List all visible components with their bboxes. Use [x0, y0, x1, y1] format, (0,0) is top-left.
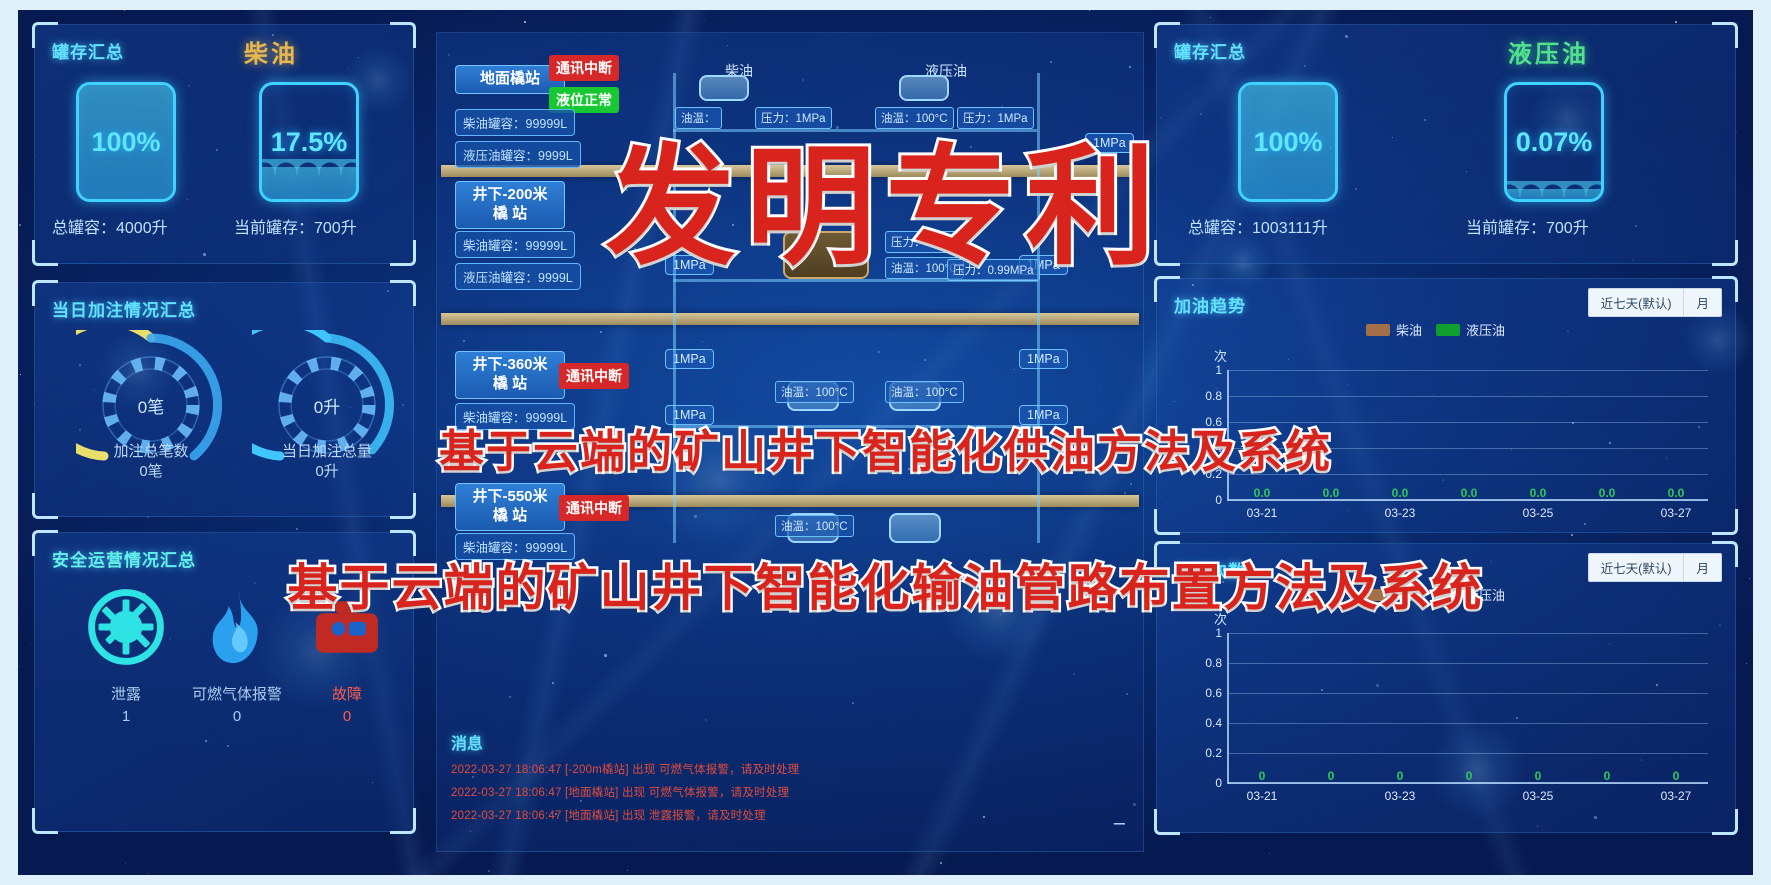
station-label-550m[interactable]: 井下-550米 橇 站 [455, 483, 565, 531]
dial-caption-refuel-count: 加注总笔数 0笔 [76, 442, 226, 483]
equipment-tank [899, 75, 949, 101]
dashboard-root: 罐存汇总 柴油 100% 总罐容：4000升 17.5% 当前罐存：700升 当… [18, 10, 1753, 875]
legend-swatch-diesel [1366, 324, 1390, 336]
range-selector[interactable]: 近七天(默认) 月 [1588, 553, 1722, 582]
chart-point-label: 0 [1466, 769, 1473, 783]
chart-ytick: 1 [1215, 626, 1222, 640]
chart-point-label: 0.0 [1392, 486, 1409, 500]
equipment-tank [889, 513, 941, 543]
chart-point-label: 0 [1604, 769, 1611, 783]
dial-caption-line1: 当日加注总量 [282, 443, 372, 460]
corner-decoration [32, 808, 58, 834]
chart-xtick: 03-21 [1247, 789, 1278, 803]
panel-daily-refuel-summary: 当日加注情况汇总 0笔 加注总笔数 0笔 0升 [34, 282, 414, 517]
panel-diesel-tank-summary: 罐存汇总 柴油 100% 总罐容：4000升 17.5% 当前罐存：700升 [34, 24, 414, 264]
chart-plot-area: 1 0.8 0.6 0.4 0.2 0 0 0 0 0 0 0 0 03-21 … [1228, 633, 1708, 783]
chart-point-label: 0.0 [1530, 486, 1547, 500]
tank-gauge-current: 0.07% [1504, 82, 1604, 202]
corner-decoration [1712, 509, 1738, 535]
chart-ytick: 0 [1215, 493, 1222, 507]
corner-decoration [390, 808, 416, 834]
legend-label-hydraulic: 液压油 [1466, 320, 1505, 339]
chart-xtick: 03-21 [1247, 506, 1278, 520]
safety-item-leak[interactable]: 泄露 1 [66, 584, 186, 725]
range-tab-month[interactable]: 月 [1683, 289, 1721, 316]
safety-item-value: 0 [292, 708, 402, 725]
tank-total-capacity-label: 总罐容：1003111升 [1188, 214, 1328, 238]
chart-point-label: 0 [1673, 769, 1680, 783]
tank-current-stock-label: 当前罐存：700升 [1466, 214, 1589, 238]
chart-point-label: 0.0 [1668, 486, 1685, 500]
panel-title: 当日加注情况汇总 [52, 296, 196, 321]
range-tab-month[interactable]: 月 [1683, 554, 1721, 581]
safety-item-value: 1 [66, 708, 186, 725]
tank-gauge-total: 100% [1238, 82, 1338, 202]
equipment-label-oil-temp: 油温：100°C [775, 515, 854, 537]
chart-ytick: 0.6 [1205, 686, 1222, 700]
station-tag-diesel-capacity: 柴油罐容：99999L [455, 109, 575, 136]
chart-point-label: 0.0 [1461, 486, 1478, 500]
panel-title: 罐存汇总 [1174, 38, 1246, 63]
chart-ytick: 0.8 [1205, 656, 1222, 670]
corner-decoration [1154, 809, 1180, 835]
tank-percent: 0.07% [1507, 85, 1601, 199]
status-badge-comm-interrupt: 通讯中断 [559, 495, 629, 521]
chart-xtick: 03-27 [1661, 506, 1692, 520]
message-line: 2022-03-27 18:06:47 [地面橇站] 出现 可燃气体报警，请及时… [451, 784, 1091, 800]
corner-decoration [1154, 509, 1180, 535]
dial-caption-line1: 加注总笔数 [113, 443, 188, 460]
range-selector[interactable]: 近七天(默认) 月 [1588, 288, 1722, 317]
station-label-200m[interactable]: 井下-200米 橇 站 [455, 181, 565, 229]
tank-gauge-current: 17.5% [259, 82, 359, 202]
watermark-patent-title-2: 基于云端的矿山井下智能化输油管路布置方法及系统 [288, 548, 1484, 620]
tank-percent: 17.5% [262, 85, 356, 199]
pressure-tag: 1MPa [1019, 349, 1068, 369]
chart-xtick: 03-25 [1523, 506, 1554, 520]
panel-title: 安全运营情况汇总 [52, 546, 196, 571]
legend-item-diesel[interactable]: 柴油 [1366, 320, 1422, 339]
corner-decoration [390, 22, 416, 48]
corner-decoration [1712, 809, 1738, 835]
chart-legend: 柴油 液压油 [1366, 320, 1505, 339]
legend-item-hydraulic[interactable]: 液压油 [1436, 320, 1505, 339]
chart-xtick: 03-25 [1523, 789, 1554, 803]
safety-item-label: 可燃气体报警 [172, 683, 302, 704]
minimize-icon[interactable]: – [1114, 812, 1125, 835]
chart-ytick: 0.2 [1205, 746, 1222, 760]
chart-point-label: 0 [1328, 769, 1335, 783]
corner-decoration [1712, 22, 1738, 48]
tank-percent: 100% [1241, 85, 1335, 199]
chart-ytick: 0.4 [1205, 716, 1222, 730]
dial-caption-line2: 0升 [315, 463, 338, 480]
range-tab-seven-days[interactable]: 近七天(默认) [1589, 289, 1684, 316]
chart-point-label: 0 [1259, 769, 1266, 783]
legend-label-diesel: 柴油 [1396, 320, 1422, 339]
chart-point-label: 0 [1397, 769, 1404, 783]
chart-point-label: 0 [1535, 769, 1542, 783]
chart-ytick: 0 [1215, 776, 1222, 790]
station-tag-hydraulic-capacity: 液压油罐容：9999L [455, 141, 581, 168]
watermark-patent: 发明专利 [605, 102, 1165, 290]
safety-item-label: 泄露 [66, 683, 186, 704]
flame-icon [194, 584, 280, 670]
panel-hydraulic-tank-summary: 罐存汇总 液压油 100% 总罐容：1003111升 0.07% 当前罐存：70… [1156, 24, 1736, 264]
gear-ring-icon [83, 584, 169, 670]
panel-title: 罐存汇总 [52, 38, 124, 63]
tank-total-capacity-label: 总罐容：4000升 [52, 214, 168, 238]
dial-caption-line2: 0笔 [139, 463, 162, 480]
watermark-patent-title-1: 基于云端的矿山井下智能化供油方法及系统 [439, 415, 1332, 480]
equipment-tank [699, 75, 749, 101]
chart-y-axis [1227, 633, 1229, 784]
chart-xtick: 03-23 [1385, 506, 1416, 520]
chart-point-label: 0.0 [1323, 486, 1340, 500]
panel-refuel-trend-chart: 加油趋势 近七天(默认) 月 柴油 液压油 次 1 0.8 0.6 0.4 0.… [1156, 278, 1736, 533]
chart-ytick: 0.8 [1205, 389, 1222, 403]
status-badge-comm-interrupt: 通讯中断 [549, 55, 619, 81]
chart-xtick: 03-23 [1385, 789, 1416, 803]
safety-item-value: 0 [172, 708, 302, 725]
chart-point-label: 0.0 [1599, 486, 1616, 500]
range-tab-seven-days[interactable]: 近七天(默认) [1589, 554, 1684, 581]
equipment-label-oil-temp: 油温：100°C [885, 381, 964, 403]
station-label-360m[interactable]: 井下-360米 橇 站 [455, 351, 565, 399]
corner-decoration [1712, 240, 1738, 266]
equipment-label-oil-temp: 油温：100°C [775, 381, 854, 403]
safety-item-label: 故障 [292, 683, 402, 704]
chart-title: 加油趋势 [1174, 292, 1246, 317]
tank-gauge-total: 100% [76, 82, 176, 202]
message-line: 2022-03-27 18:06:47 [地面橇站] 出现 泄露报警，请及时处理 [451, 807, 1091, 823]
station-tag-hydraulic-capacity: 液压油罐容：9999L [455, 263, 581, 290]
corner-decoration [32, 240, 58, 266]
level-divider-200m [441, 313, 1139, 325]
message-line: 2022-03-27 18:06:47 [-200m橇站] 出现 可燃气体报警，… [451, 761, 1091, 777]
oil-type-label: 液压油 [1508, 34, 1589, 69]
corner-decoration [32, 493, 58, 519]
chart-ytick: 1 [1215, 363, 1222, 377]
chart-xtick: 03-27 [1661, 789, 1692, 803]
status-badge-comm-interrupt: 通讯中断 [559, 363, 629, 389]
corner-decoration [390, 493, 416, 519]
safety-item-gas-alarm[interactable]: 可燃气体报警 0 [172, 584, 302, 725]
message-log-title: 消息 [451, 730, 1091, 754]
tank-percent: 100% [79, 85, 173, 199]
station-tag-diesel-capacity: 柴油罐容：99999L [455, 231, 575, 258]
tank-current-stock-label: 当前罐存：700升 [234, 214, 357, 238]
chart-point-label: 0.0 [1254, 486, 1271, 500]
corner-decoration [390, 280, 416, 306]
message-log: 消息 2022-03-27 18:06:47 [-200m橇站] 出现 可燃气体… [451, 730, 1091, 823]
oil-type-label: 柴油 [244, 34, 298, 69]
legend-swatch-hydraulic [1436, 324, 1460, 336]
corner-decoration [390, 240, 416, 266]
dial-caption-refuel-volume: 当日加注总量 0升 [252, 442, 402, 483]
